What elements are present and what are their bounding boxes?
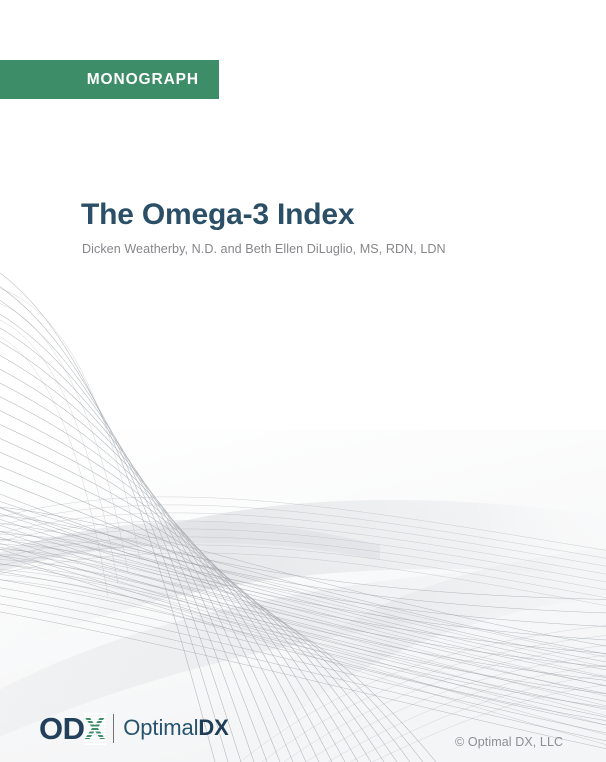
- authors-line: Dicken Weatherby, N.D. and Beth Ellen Di…: [82, 242, 446, 257]
- odx-logomark-x-letter: X: [85, 711, 105, 746]
- odx-wordmark: OptimalDX: [123, 717, 228, 739]
- logo-divider: [113, 714, 115, 743]
- odx-logomark-od: OD: [39, 713, 85, 744]
- odx-wordmark-bold: DX: [198, 715, 228, 740]
- title-block: The Omega-3 Index Dicken Weatherby, N.D.…: [81, 198, 446, 257]
- document-cover-page: MONOGRAPH The Omega-3 Index Dicken Weath…: [0, 0, 606, 762]
- odx-logo: ODX OptimalDX: [39, 711, 229, 745]
- odx-logomark: ODX: [39, 713, 105, 744]
- odx-logomark-x-striped: X: [85, 713, 105, 744]
- abstract-wave-artwork: [0, 0, 606, 762]
- odx-wordmark-regular: Optimal: [123, 715, 198, 740]
- monograph-banner: MONOGRAPH: [0, 60, 219, 99]
- monograph-banner-label: MONOGRAPH: [87, 72, 199, 88]
- copyright-notice: © Optimal DX, LLC: [455, 735, 563, 749]
- page-title: The Omega-3 Index: [81, 198, 446, 232]
